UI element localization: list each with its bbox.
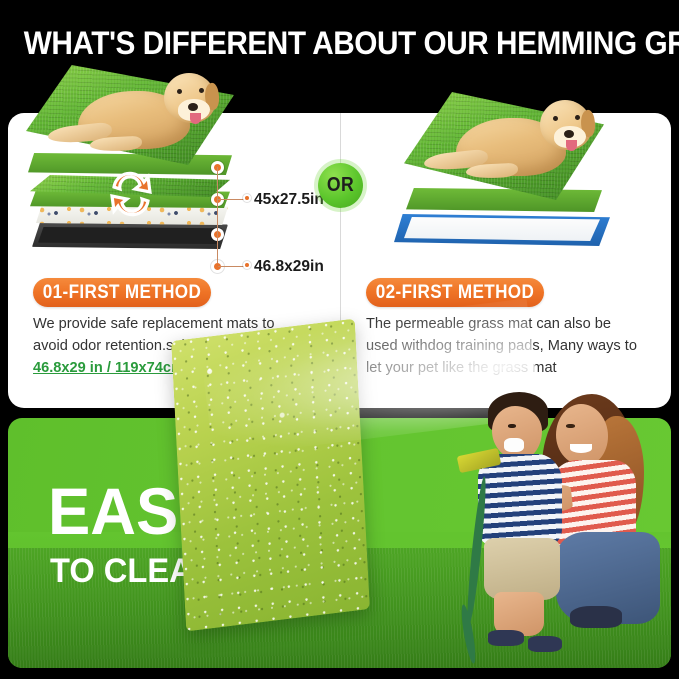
- tray-inner-layer: [38, 227, 222, 244]
- mother-shoe: [570, 606, 622, 628]
- or-label: OR: [327, 174, 354, 197]
- callout-label-1: 45x27.5in: [254, 191, 324, 209]
- method-02-line-1: The permeable grass mat can also be: [366, 313, 656, 335]
- product-infographic: WHAT'S DIFFERENT ABOUT OUR HEMMING GRASS…: [0, 0, 679, 679]
- blue-pad-inner: [404, 217, 600, 241]
- mother-face: [556, 404, 608, 466]
- mother-smile: [570, 444, 592, 453]
- callout-hline-2: [218, 266, 246, 267]
- callout-tip-2: [243, 261, 251, 269]
- right-product-photo: [394, 62, 629, 272]
- mother-eye: [566, 424, 575, 428]
- method-02-body: The permeable grass mat can also be used…: [366, 313, 656, 379]
- method-02-line-2: used withdog training pads, Many ways to: [366, 335, 656, 357]
- child-shorts: [484, 538, 560, 600]
- child-mouth: [504, 438, 524, 452]
- child-shirt: [478, 454, 562, 546]
- dog-icon: [422, 90, 608, 190]
- refresh-icon: [100, 163, 162, 225]
- child-eye: [508, 424, 516, 428]
- method-02-badge: 02-FIRST METHOD: [366, 278, 544, 307]
- callout-label-2: 46.8x29in: [254, 258, 324, 276]
- or-badge: OR: [318, 163, 363, 208]
- people-photo: [470, 392, 679, 668]
- method-01-badge-label: 01-FIRST METHOD: [43, 282, 201, 304]
- water-droplets: [171, 319, 370, 632]
- callout-vline: [217, 167, 218, 263]
- child-sandal: [528, 636, 562, 652]
- method-01-highlight: 46.8x29 in / 119x74cm: [33, 360, 184, 376]
- child-sandal: [488, 630, 524, 646]
- callout-tip-1: [243, 194, 251, 202]
- callout-hline-1: [218, 199, 246, 200]
- wet-grass-mat: [171, 319, 370, 632]
- method-02-line-3: let your pet like the grass mat: [366, 357, 656, 379]
- method-01-badge: 01-FIRST METHOD: [33, 278, 211, 307]
- method-02-badge-label: 02-FIRST METHOD: [376, 282, 534, 304]
- dog-icon: [44, 63, 234, 163]
- right-grass-edge: [406, 188, 602, 212]
